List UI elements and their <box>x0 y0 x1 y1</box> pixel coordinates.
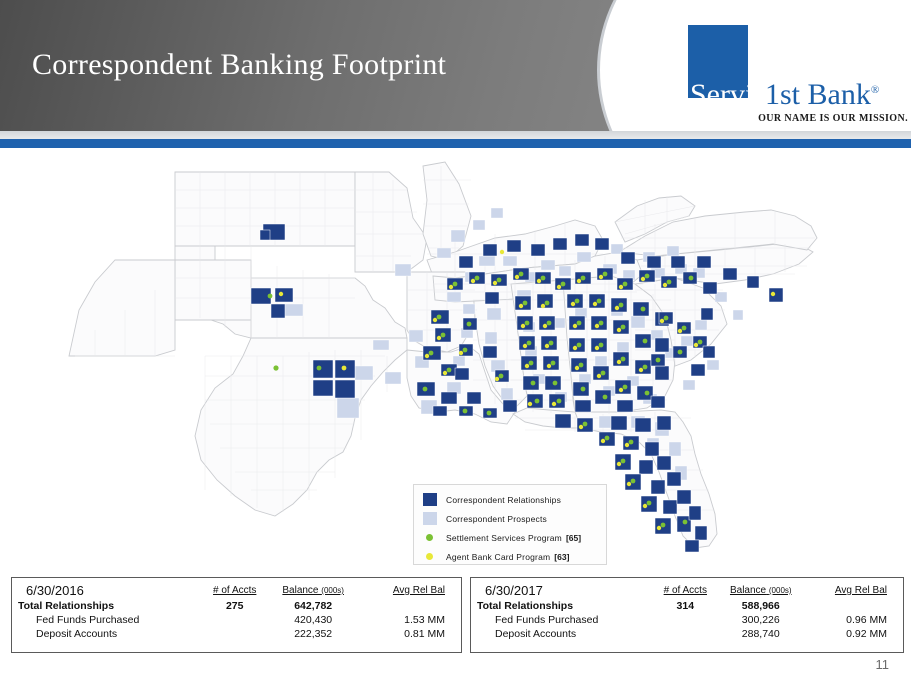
row-balance: 288,740 <box>716 627 805 641</box>
row-balance: 222,352 <box>267 627 359 641</box>
table-row: Fed Funds Purchased 300,226 0.96 MM <box>471 613 903 627</box>
row-avg <box>805 599 903 613</box>
row-avg: 0.92 MM <box>805 627 903 641</box>
legend-item-correspondent-prospects: Correspondent Prospects <box>414 509 606 528</box>
row-label: Fed Funds Purchased <box>471 613 654 627</box>
page-number: 11 <box>876 657 890 672</box>
row-accounts: 275 <box>202 599 267 613</box>
legend-label: Correspondent Relationships <box>446 495 561 505</box>
row-accounts <box>654 613 716 627</box>
logo-word-1st-bank: 1st Bank <box>765 78 871 111</box>
table-row: Deposit Accounts 288,740 0.92 MM <box>471 627 903 641</box>
row-label: Fed Funds Purchased <box>12 613 202 627</box>
row-accounts: 314 <box>654 599 716 613</box>
financial-table-2016: 6/30/2016 # of Accts Balance (000s) Avg … <box>11 577 462 653</box>
registered-trademark-icon: ® <box>871 84 879 96</box>
row-avg: 0.96 MM <box>805 613 903 627</box>
balance-unit: (000s) <box>769 586 792 595</box>
column-header-avg-rel-bal: Avg Rel Bal <box>805 582 903 599</box>
green-dot-icon <box>426 534 433 541</box>
row-accounts <box>654 627 716 641</box>
slide-header: Correspondent Banking Footprint Servis1s… <box>0 0 911 131</box>
table-row: Total Relationships 314 588,966 <box>471 599 903 613</box>
column-header-balance: Balance (000s) <box>267 582 359 599</box>
yellow-dot-icon <box>426 553 433 560</box>
table-header-row: 6/30/2016 # of Accts Balance (000s) Avg … <box>12 582 461 599</box>
balance-unit: (000s) <box>321 586 344 595</box>
servisfirst-bank-logo: Servis1st Bank® OUR NAME IS OUR MISSION. <box>688 25 903 130</box>
row-label: Total Relationships <box>12 599 202 613</box>
row-balance: 300,226 <box>716 613 805 627</box>
balance-text: Balance <box>282 585 318 596</box>
legend-item-agent-bank-card-program: Agent Bank Card Program [63] <box>414 547 606 566</box>
table-date-label: 6/30/2016 <box>12 582 202 599</box>
row-avg <box>359 599 461 613</box>
legend-count: [65] <box>566 533 581 543</box>
legend-label: Agent Bank Card Program <box>446 552 550 562</box>
balance-text: Balance <box>730 585 766 596</box>
table-date-label: 6/30/2017 <box>471 582 654 599</box>
dark-blue-square-icon <box>423 493 437 506</box>
logo-tagline: OUR NAME IS OUR MISSION. <box>748 113 908 124</box>
row-avg: 1.53 MM <box>359 613 461 627</box>
map-legend: Correspondent Relationships Corresponden… <box>413 484 607 565</box>
column-header-avg-rel-bal: Avg Rel Bal <box>359 582 461 599</box>
table-header-row: 6/30/2017 # of Accts Balance (000s) Avg … <box>471 582 903 599</box>
logo-word-servis: Servis <box>688 78 765 111</box>
legend-label: Correspondent Prospects <box>446 514 547 524</box>
row-avg: 0.81 MM <box>359 627 461 641</box>
row-balance: 588,966 <box>716 599 805 613</box>
row-balance: 642,782 <box>267 599 359 613</box>
financial-table-2017: 6/30/2017 # of Accts Balance (000s) Avg … <box>470 577 904 653</box>
row-label: Total Relationships <box>471 599 654 613</box>
column-header-accounts: # of Accts <box>202 582 267 599</box>
table-row: Total Relationships 275 642,782 <box>12 599 461 613</box>
light-blue-square-icon <box>423 512 437 525</box>
logo-wordmark: Servis1st Bank® <box>688 73 903 107</box>
row-label: Deposit Accounts <box>12 627 202 641</box>
row-accounts <box>202 627 267 641</box>
financial-summary-tables: 6/30/2016 # of Accts Balance (000s) Avg … <box>11 577 904 653</box>
legend-item-correspondent-relationships: Correspondent Relationships <box>414 490 606 509</box>
table-row: Deposit Accounts 222,352 0.81 MM <box>12 627 461 641</box>
legend-label: Settlement Services Program <box>446 533 562 543</box>
row-label: Deposit Accounts <box>471 627 654 641</box>
page-title: Correspondent Banking Footprint <box>32 48 446 82</box>
row-balance: 420,430 <box>267 613 359 627</box>
legend-count: [63] <box>554 552 569 562</box>
header-blue-rule <box>0 139 911 148</box>
row-accounts <box>202 613 267 627</box>
column-header-balance: Balance (000s) <box>716 582 805 599</box>
column-header-accounts: # of Accts <box>654 582 716 599</box>
legend-item-settlement-services-program: Settlement Services Program [65] <box>414 528 606 547</box>
header-grey-band <box>0 131 911 139</box>
table-row: Fed Funds Purchased 420,430 1.53 MM <box>12 613 461 627</box>
